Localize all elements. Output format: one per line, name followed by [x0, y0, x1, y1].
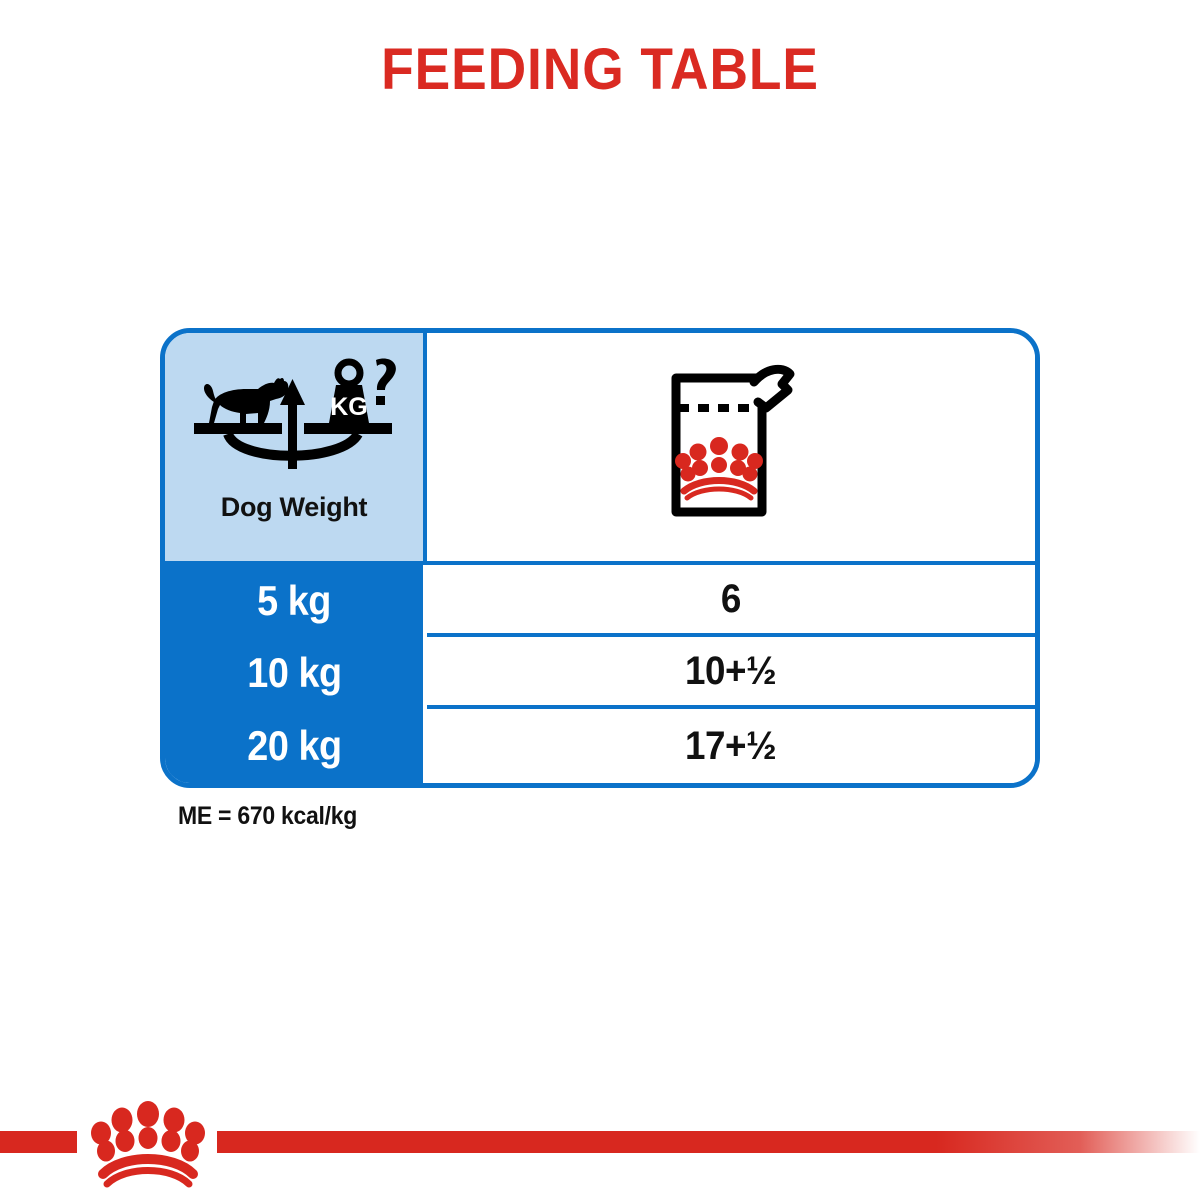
dog-weight-value: 20 kg [247, 722, 341, 770]
metabolisable-energy-footnote: ME = 670 kcal/kg [178, 802, 357, 831]
page-title: FEEDING TABLE [48, 36, 1152, 103]
table-row: 17+½ [427, 709, 1035, 783]
table-row: 10+½ [427, 637, 1035, 709]
table-row: 6 [427, 565, 1035, 637]
feeding-table: KG Dog Weight [160, 328, 1040, 788]
pouch-amount-value: 6 [721, 577, 741, 622]
table-header-dog-weight: KG Dog Weight [165, 333, 427, 565]
dog-weight-value: 10 kg [247, 649, 341, 697]
dog-weight-value: 5 kg [257, 577, 331, 625]
pouch-amount-value: 10+½ [685, 649, 776, 694]
table-row: 10 kg [165, 637, 427, 709]
royal-canin-crown-logo [78, 1096, 218, 1188]
table-header-dog-weight-label: Dog Weight [221, 492, 367, 523]
wet-food-pouch-icon [654, 360, 809, 535]
pouch-amount-value: 17+½ [685, 724, 776, 769]
table-row: 20 kg [165, 709, 427, 783]
svg-text:KG: KG [330, 393, 368, 421]
feeding-table-grid: KG Dog Weight [165, 333, 1035, 783]
table-row: 5 kg [165, 565, 427, 637]
table-header-pouch [427, 333, 1035, 565]
dog-weight-scale-icon: KG [192, 355, 397, 480]
